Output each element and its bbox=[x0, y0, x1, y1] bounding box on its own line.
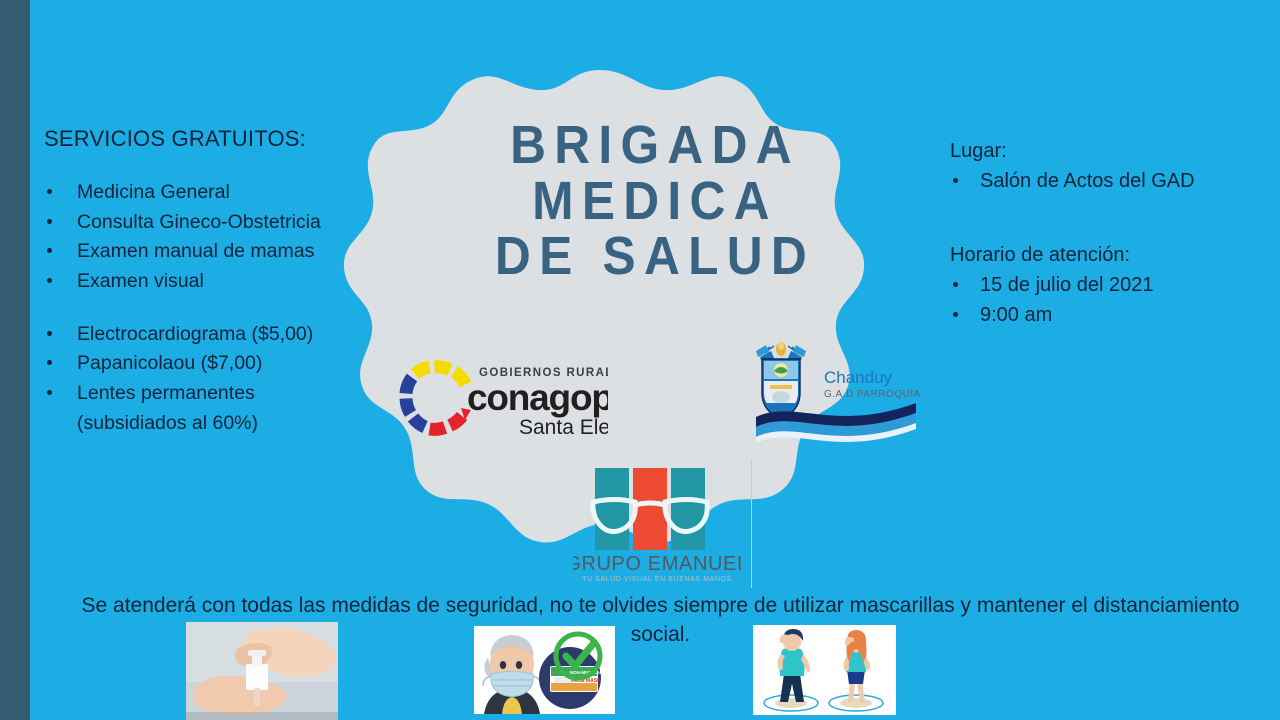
emanuel-glasses-icon bbox=[593, 468, 707, 550]
left-accent-stripe bbox=[0, 0, 30, 720]
bullet-dot-icon bbox=[953, 178, 958, 183]
emanuel-tagline: TU SALUD VISUAL EN BUENAS MANOS bbox=[582, 576, 732, 583]
chanduy-name: Chanduy bbox=[824, 368, 893, 387]
title-line-3: DE SALUD bbox=[448, 229, 862, 285]
services-column: SERVICIOS GRATUITOS: Medicina General Co… bbox=[44, 126, 374, 438]
bullet-dot-icon bbox=[953, 282, 958, 287]
schedule-list: 15 de julio del 2021 9:00 am bbox=[950, 270, 1260, 330]
list-item: 15 de julio del 2021 bbox=[950, 270, 1260, 300]
photo-social-distancing-illustration bbox=[746, 620, 903, 720]
list-item-label: Papanicolaou ($7,00) bbox=[77, 352, 262, 374]
grupo-emanuel-logo: GRUPO EMANUEL TU SALUD VISUAL EN BUENAS … bbox=[573, 458, 741, 586]
poster-title: BRIGADA MEDICA DE SALUD bbox=[448, 118, 862, 285]
list-item: Electrocardiograma ($5,00) bbox=[44, 320, 374, 349]
title-line-1: BRIGADA bbox=[448, 118, 862, 174]
bullet-dot-icon bbox=[47, 219, 52, 224]
emanuel-divider-line bbox=[751, 460, 752, 588]
emanuel-wordmark: GRUPO EMANUEL bbox=[573, 553, 741, 575]
list-item-label: Examen visual bbox=[77, 270, 204, 292]
chanduy-coat-of-arms-icon bbox=[756, 342, 806, 419]
poster-canvas: BRIGADA MEDICA DE SALUD SERVICIOS GRATUI… bbox=[0, 0, 1280, 720]
free-services-list: Medicina General Consulta Gineco-Obstetr… bbox=[44, 178, 374, 296]
list-item: Examen visual bbox=[44, 267, 374, 296]
list-item: Papanicolaou ($7,00) bbox=[44, 349, 374, 378]
bullet-dot-icon bbox=[47, 278, 52, 283]
bullet-dot-icon bbox=[953, 312, 958, 317]
list-item: Medicina General bbox=[44, 178, 374, 207]
list-item: Examen manual de mamas bbox=[44, 237, 374, 266]
list-item-continuation: (subsidiados al 60%) bbox=[44, 409, 374, 438]
details-column: Lugar: Salón de Actos del GAD Horario de… bbox=[950, 140, 1260, 330]
place-list: Salón de Actos del GAD bbox=[950, 166, 1260, 196]
title-line-2: MEDICA bbox=[448, 174, 862, 230]
services-heading: SERVICIOS GRATUITOS: bbox=[44, 126, 374, 152]
conagopare-region: Santa Elena bbox=[519, 416, 608, 439]
bullet-dot-icon bbox=[47, 360, 52, 365]
place-label: Lugar: bbox=[950, 140, 1260, 163]
chanduy-subtitle: G.A.D PARROQUIAL bbox=[824, 389, 920, 400]
list-item: Lentes permanentes bbox=[44, 379, 374, 408]
photo-hand-sanitizer bbox=[186, 622, 338, 720]
list-item-label: Salón de Actos del GAD bbox=[980, 170, 1195, 192]
list-item-label: Medicina General bbox=[77, 181, 230, 203]
conagopare-wordmark: conagopare bbox=[467, 377, 608, 418]
list-item-label: Electrocardiograma ($5,00) bbox=[77, 323, 313, 345]
list-item-label: Lentes permanentes bbox=[77, 382, 255, 404]
bullet-dot-icon bbox=[47, 248, 52, 253]
list-item-label: Examen manual de mamas bbox=[77, 240, 314, 262]
list-item: Salón de Actos del GAD bbox=[950, 166, 1260, 196]
bullet-dot-icon bbox=[47, 189, 52, 194]
bullet-dot-icon bbox=[47, 331, 52, 336]
bullet-dot-icon bbox=[47, 390, 52, 395]
column-spacer bbox=[950, 196, 1260, 244]
conagopare-ring-icon bbox=[406, 367, 471, 429]
list-item-label: 9:00 am bbox=[980, 304, 1052, 326]
list-item: 9:00 am bbox=[950, 300, 1260, 330]
photo-face-mask-illustration: NON-MEDICAL FACE MASK bbox=[466, 620, 623, 720]
chanduy-gad-logo: Chanduy G.A.D PARROQUIAL bbox=[740, 337, 920, 442]
list-item: Consulta Gineco-Obstetricia bbox=[44, 208, 374, 237]
schedule-label: Horario de atención: bbox=[950, 244, 1260, 267]
paid-services-list: Electrocardiograma ($5,00) Papanicolaou … bbox=[44, 320, 374, 438]
conagopare-logo: GOBIERNOS RURALES conagopare Santa Elena bbox=[393, 352, 608, 444]
list-item-label: 15 de julio del 2021 bbox=[980, 274, 1153, 296]
list-item-label: Consulta Gineco-Obstetricia bbox=[77, 211, 321, 233]
